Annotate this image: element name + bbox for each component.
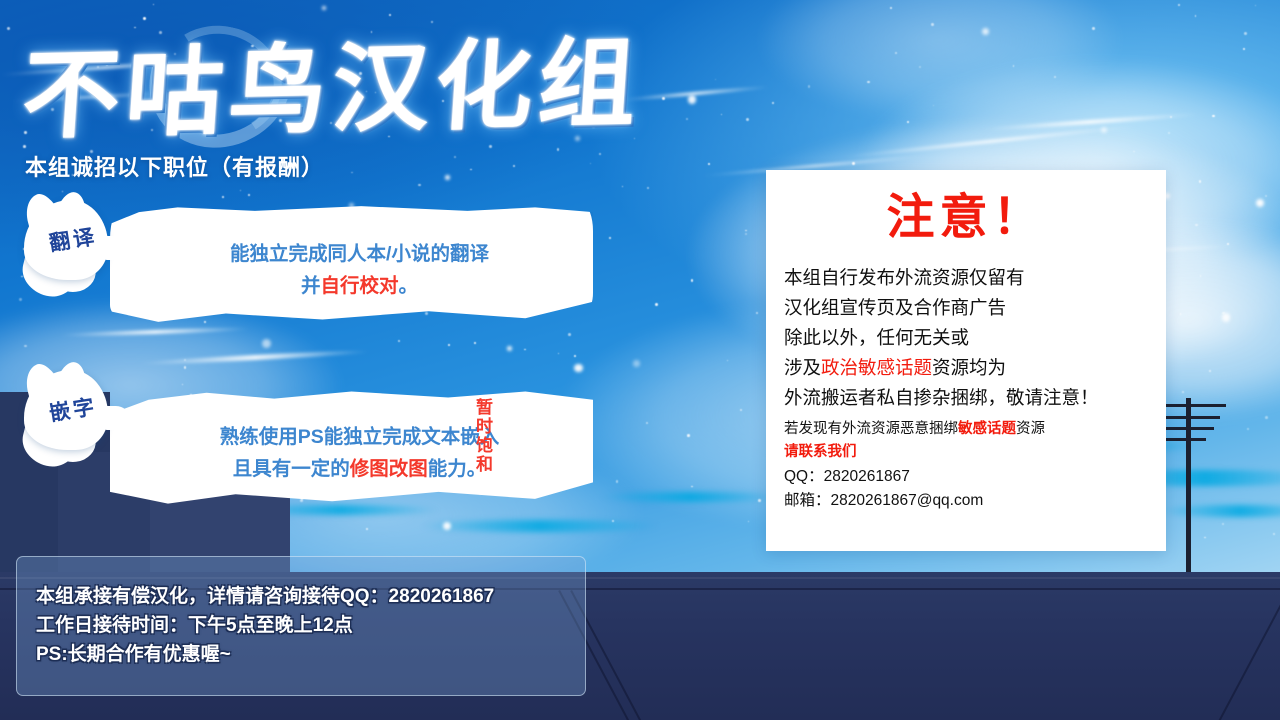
- sparkle-icon: [443, 522, 451, 530]
- teal-streak: [600, 492, 780, 502]
- sparkle-icon: [24, 345, 27, 348]
- sparkle-icon: [852, 162, 855, 165]
- notice-contact-info: QQ：2820261867 邮箱：2820261867@qq.com: [766, 463, 1166, 513]
- notice-sub-suffix: 资源: [1016, 421, 1045, 437]
- notice-line: 汉化组宣传页及合作商广告: [784, 293, 1166, 323]
- requirement-line: 且具有一定的修图改图能力。: [136, 454, 583, 486]
- sparkle-icon: [622, 186, 623, 187]
- service-info-line: PS:长期合作有优惠喔~: [17, 641, 585, 670]
- sparkle-icon: [418, 184, 420, 186]
- saturated-stamp: 暂时饱和: [470, 398, 492, 474]
- sparkle-icon: [454, 156, 456, 158]
- sparkle-icon: [574, 364, 583, 373]
- notice-line: 除此以外，任何无关或: [784, 323, 1166, 353]
- service-info-panel: 本组承接有偿汉化，详情请咨询接待QQ：2820261867 工作日接待时间：下午…: [16, 556, 586, 696]
- requirement-highlight: 修图改图: [350, 458, 428, 480]
- sparkle-icon: [633, 360, 639, 366]
- requirement-highlight: 自行校对: [320, 275, 398, 297]
- notice-sub-highlight: 敏感话题: [958, 421, 1016, 437]
- sparkle-icon: [655, 303, 658, 306]
- sparkle-icon: [1195, 15, 1196, 16]
- sparkle-icon: [647, 187, 649, 189]
- sparkle-icon: [895, 52, 897, 54]
- sparkle-icon: [558, 353, 559, 354]
- sparkle-icon: [688, 95, 696, 103]
- sparkle-icon: [686, 118, 688, 120]
- position-requirements-typeset: 熟练使用PS能独立完成文本嵌入 且具有一定的修图改图能力。: [136, 422, 583, 485]
- notice-suffix: 资源均为: [932, 357, 1006, 378]
- sparkle-icon: [745, 233, 747, 235]
- sparkle-icon: [772, 102, 773, 103]
- requirement-line: 能独立完成同人本/小说的翻译: [136, 239, 583, 271]
- tv-antenna-icon: [1186, 398, 1191, 576]
- qq-value[interactable]: QQ：2820261867: [784, 465, 1166, 489]
- sparkle-icon: [1265, 416, 1268, 419]
- sparkle-icon: [1092, 27, 1095, 30]
- notice-highlight: 政治敏感话题: [821, 357, 932, 378]
- sparkle-icon: [691, 486, 692, 487]
- page-title: 不咕鸟汉化组: [19, 4, 647, 158]
- sparkle-icon: [982, 28, 989, 35]
- requirement-suffix: 。: [399, 275, 419, 297]
- sparkle-icon: [808, 85, 810, 87]
- notice-body: 本组自行发布外流资源仅留有 汉化组宣传页及合作商广告 除此以外，任何无关或 涉及…: [766, 247, 1166, 413]
- notice-line: 涉及政治敏感话题资源均为: [784, 353, 1166, 383]
- sparkle-icon: [1133, 151, 1135, 153]
- sparkle-icon: [646, 422, 648, 424]
- sparkle-icon: [745, 230, 746, 231]
- notice-prefix: 涉及: [784, 357, 821, 378]
- notice-sub-prefix: 若发现有外流资源恶意捆绑: [784, 421, 958, 437]
- sparkle-icon: [1244, 32, 1247, 35]
- sparkle-icon: [1247, 428, 1249, 430]
- sparkle-icon: [568, 333, 571, 336]
- sparkle-icon: [1199, 180, 1202, 183]
- sparkle-icon: [1200, 275, 1201, 276]
- sparkle-icon: [240, 190, 241, 191]
- notice-line: 外流搬运者私自掺杂捆绑，敬请注意！: [784, 383, 1166, 413]
- teal-streak: [420, 520, 660, 532]
- contact-us-label: 请联系我们: [784, 441, 1166, 463]
- sparkle-icon: [398, 340, 400, 342]
- sparkle-icon: [7, 27, 10, 30]
- notice-sub-line: 若发现有外流资源恶意捆绑敏感话题资源: [784, 418, 1166, 440]
- email-value[interactable]: 邮箱：2820261867@qq.com: [784, 489, 1166, 513]
- sparkle-icon: [590, 163, 591, 164]
- position-banner-translate: 能独立完成同人本/小说的翻译 并自行校对。: [110, 205, 593, 323]
- notice-box: 注意！ 本组自行发布外流资源仅留有 汉化组宣传页及合作商广告 除此以外，任何无关…: [766, 170, 1166, 551]
- service-info-line: 工作日接待时间：下午5点至晚上12点: [17, 612, 585, 641]
- notice-line: 本组自行发布外流资源仅留有: [784, 263, 1166, 293]
- service-info-line: 本组承接有偿汉化，详情请咨询接待QQ：2820261867: [17, 557, 585, 612]
- sparkle-icon: [1212, 115, 1215, 118]
- sparkle-icon: [1209, 370, 1211, 372]
- sparkle-icon: [366, 528, 368, 530]
- sparkle-icon: [758, 499, 761, 502]
- sparkle-icon: [1195, 224, 1197, 226]
- poster-stage: 不咕鸟汉化组 本组诚招以下职位（有报酬） 能独立完成同人本/小说的翻译 并自行校…: [0, 0, 1280, 720]
- dove-badge-translate: 翻译: [18, 196, 126, 304]
- recruitment-subtitle: 本组诚招以下职位（有报酬）: [25, 150, 324, 182]
- notice-sub-warning: 若发现有外流资源恶意捆绑敏感话题资源 请联系我们: [766, 412, 1166, 463]
- sparkle-icon: [609, 237, 610, 238]
- sparkle-icon: [1170, 116, 1172, 118]
- sparkle-icon: [62, 191, 63, 192]
- sparkle-icon: [1222, 313, 1230, 321]
- sparkle-icon: [687, 434, 690, 437]
- dove-badge-typeset: 嵌字: [18, 366, 126, 474]
- sparkle-icon: [262, 339, 271, 348]
- position-banner-typeset: 熟练使用PS能独立完成文本嵌入 且具有一定的修图改图能力。: [110, 388, 593, 506]
- requirement-prefix: 且具有一定的: [233, 458, 350, 480]
- requirement-prefix: 并: [301, 275, 321, 297]
- sparkle-icon: [662, 97, 664, 99]
- sparkle-icon: [931, 23, 934, 26]
- requirement-line: 并自行校对。: [136, 271, 583, 303]
- position-requirements-translate: 能独立完成同人本/小说的翻译 并自行校对。: [136, 239, 583, 302]
- notice-heading: 注意！: [766, 170, 1166, 247]
- sparkle-icon: [691, 279, 694, 282]
- requirement-line: 熟练使用PS能独立完成文本嵌入: [136, 422, 583, 454]
- sparkle-icon: [351, 172, 352, 173]
